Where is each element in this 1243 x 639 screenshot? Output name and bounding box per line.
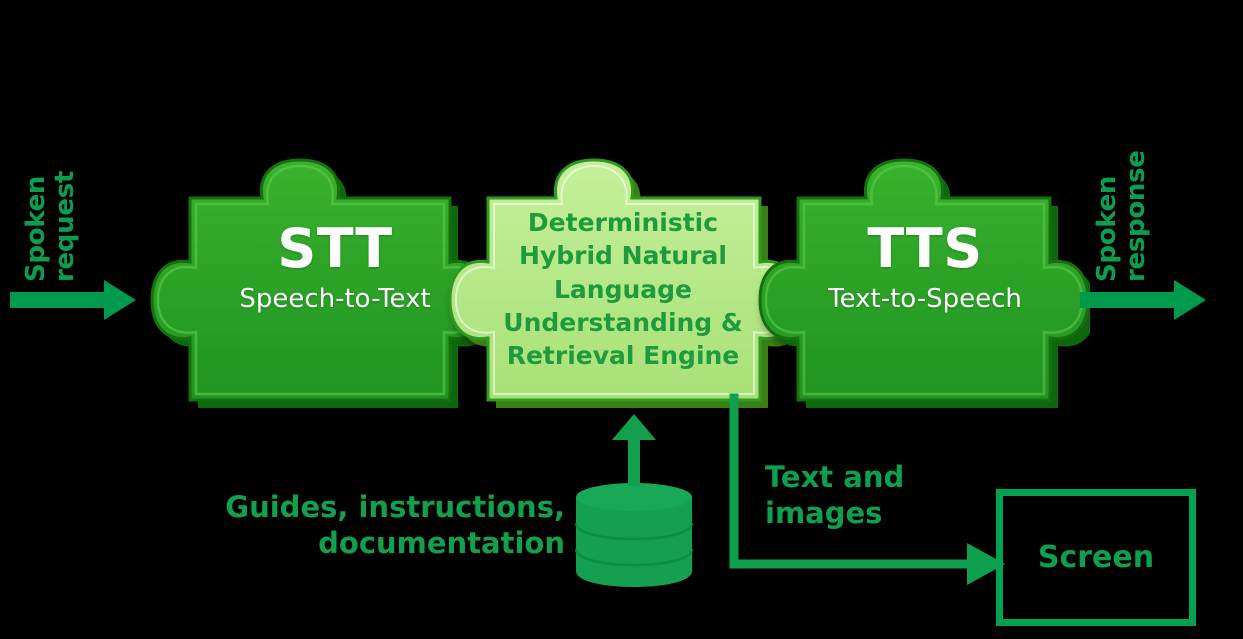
knowledge-to-engine-arrow	[602, 414, 666, 486]
spoken-response-label: Spoken response	[1093, 150, 1151, 282]
spoken-response-line1: Spoken	[1092, 176, 1122, 282]
knowledge-source-line1: Guides, instructions,	[193, 490, 565, 526]
puzzle-piece-engine	[450, 160, 806, 408]
display-path-line1: Text and	[765, 460, 975, 496]
puzzle-piece-stt	[152, 160, 496, 408]
puzzle-piece-tts	[760, 160, 1090, 408]
display-path-label: Text and images	[765, 460, 975, 531]
spoken-request-label: Spoken request	[22, 171, 80, 282]
diagram-canvas: Spoken request	[0, 0, 1243, 639]
knowledge-source-line2: documentation	[193, 526, 565, 562]
database-cylinder-icon	[570, 479, 698, 589]
display-path-line2: images	[765, 496, 975, 532]
spoken-request-line1: Spoken	[21, 176, 51, 282]
screen-label: Screen	[1003, 539, 1189, 574]
screen-node[interactable]: Screen	[996, 489, 1196, 626]
spoken-request-arrow	[10, 278, 140, 322]
spoken-response-line2: response	[1122, 150, 1151, 282]
knowledge-source-label: Guides, instructions, documentation	[193, 490, 565, 561]
spoken-response-arrow	[1080, 278, 1210, 322]
spoken-request-line2: request	[51, 171, 80, 282]
puzzle-pipeline	[150, 150, 1090, 440]
